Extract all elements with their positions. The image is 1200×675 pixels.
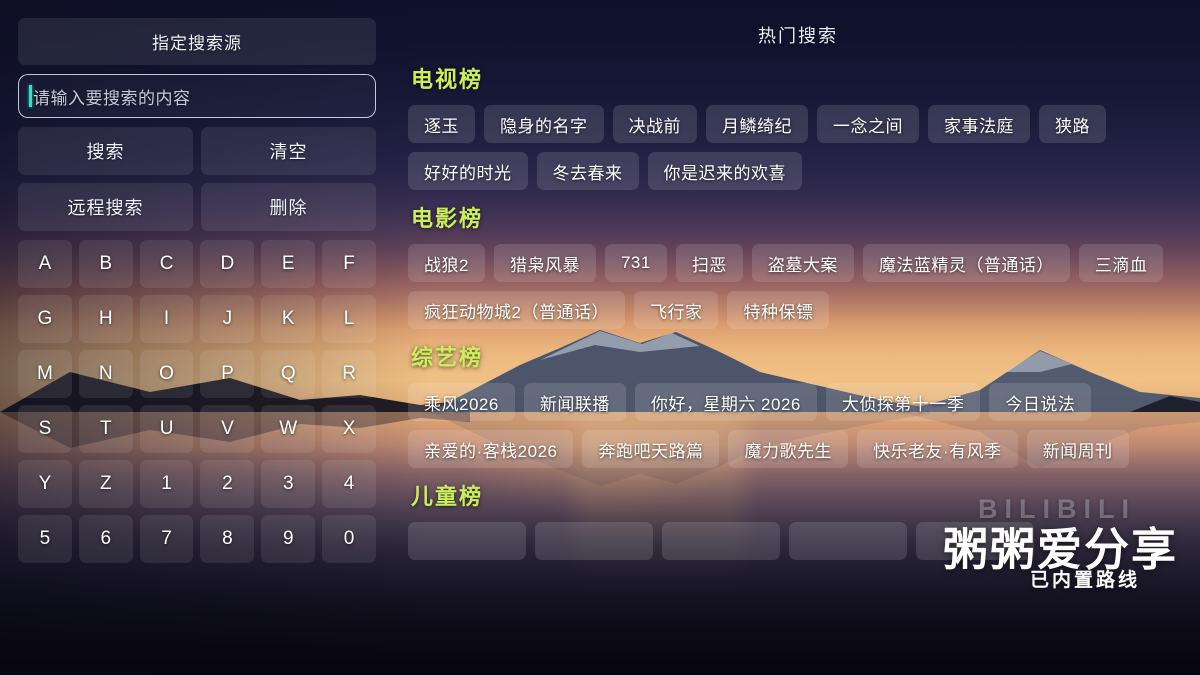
key-d[interactable]: D (200, 240, 254, 288)
ranking-tag-label: 你是迟来的欢喜 (664, 159, 787, 184)
key-3[interactable]: 3 (261, 460, 315, 508)
ranking-tag-label: 好好的时光 (424, 159, 512, 184)
key-label: L (344, 308, 355, 330)
ranking-tag-label: 奔跑吧天路篇 (598, 437, 703, 462)
ranking-tag[interactable]: 战狼2 (408, 244, 485, 282)
ranking-tag[interactable]: 奔跑吧天路篇 (582, 430, 719, 468)
key-label: 5 (40, 528, 51, 550)
ranking-tag[interactable]: 乘风2026 (408, 383, 515, 421)
ranking-tag-label: 狭路 (1055, 112, 1090, 137)
key-label: H (99, 308, 113, 330)
ranking-tag[interactable]: 亲爱的·客栈2026 (408, 430, 573, 468)
ranking-tag[interactable]: 一念之间 (817, 105, 919, 143)
key-s[interactable]: S (18, 405, 72, 453)
ranking-tag[interactable]: 今日说法 (989, 383, 1091, 421)
key-6[interactable]: 6 (79, 515, 133, 563)
key-label: 1 (161, 473, 172, 495)
ranking-tag-list: 战狼2猎枭风暴731扫恶盗墓大案魔法蓝精灵（普通话）三滴血疯狂动物城2（普通话）… (408, 244, 1200, 329)
ranking-tag[interactable]: 狭路 (1039, 105, 1106, 143)
key-label: F (343, 253, 355, 275)
key-label: 2 (222, 473, 233, 495)
key-label: K (282, 308, 295, 330)
text-cursor-icon (29, 85, 32, 107)
ranking-tag-label: 飞行家 (650, 298, 703, 323)
key-label: U (160, 418, 174, 440)
key-i[interactable]: I (140, 295, 194, 343)
key-h[interactable]: H (79, 295, 133, 343)
ranking-tag[interactable]: 魔力歌先生 (728, 430, 848, 468)
ranking-tag-label: 战狼2 (424, 251, 469, 276)
ranking-section: 儿童榜 (408, 479, 1200, 560)
key-label: T (100, 418, 112, 440)
key-n[interactable]: N (79, 350, 133, 398)
hot-search-panel: 热门搜索 电视榜逐玉隐身的名字决战前月鳞绮纪一念之间家事法庭狭路好好的时光冬去春… (396, 0, 1200, 675)
key-label: 7 (161, 528, 172, 550)
key-label: 9 (283, 528, 294, 550)
key-g[interactable]: G (18, 295, 72, 343)
action-button-grid: 搜索 清空 远程搜索 删除 (18, 127, 376, 231)
ranking-tag[interactable]: 月鳞绮纪 (706, 105, 808, 143)
ranking-tag-label: 猎枭风暴 (510, 251, 580, 276)
ranking-tag-label: 逐玉 (424, 112, 459, 137)
ranking-tag[interactable] (789, 522, 907, 560)
ranking-tag-label: 决战前 (629, 112, 682, 137)
ranking-tag-label: 大侦探第十一季 (842, 390, 965, 415)
key-label: 3 (283, 473, 294, 495)
key-label: S (39, 418, 52, 440)
ranking-tag-label: 特种保镖 (743, 298, 813, 323)
key-label: P (221, 363, 234, 385)
ranking-tag[interactable]: 731 (605, 244, 667, 282)
key-label: 6 (100, 528, 111, 550)
key-label: X (343, 418, 356, 440)
key-label: C (160, 253, 174, 275)
ranking-tag-label: 今日说法 (1005, 390, 1075, 415)
ranking-tag-label: 三滴血 (1095, 251, 1148, 276)
key-a[interactable]: A (18, 240, 72, 288)
key-f[interactable]: F (322, 240, 376, 288)
search-input-placeholder: 请输入要搜索的内容 (33, 84, 191, 109)
search-input[interactable]: 请输入要搜索的内容 (18, 74, 376, 118)
key-4[interactable]: 4 (322, 460, 376, 508)
ranking-tag-label: 扫恶 (692, 251, 727, 276)
search-button-label: 搜索 (87, 138, 125, 164)
ranking-section: 综艺榜乘风2026新闻联播你好，星期六 2026大侦探第十一季今日说法亲爱的·客… (408, 340, 1200, 468)
ranking-tag[interactable]: 魔法蓝精灵（普通话） (863, 244, 1070, 282)
ranking-tag[interactable]: 冬去春来 (537, 152, 639, 190)
delete-button-label: 删除 (270, 194, 308, 220)
ranking-tag[interactable]: 扫恶 (676, 244, 743, 282)
ranking-tag-label: 魔力歌先生 (744, 437, 832, 462)
ranking-tag-label: 你好，星期六 2026 (651, 390, 801, 415)
key-8[interactable]: 8 (200, 515, 254, 563)
ranking-tag[interactable]: 家事法庭 (928, 105, 1030, 143)
key-l[interactable]: L (322, 295, 376, 343)
key-label: 0 (344, 528, 355, 550)
key-label: R (342, 363, 356, 385)
search-panel: 指定搜索源 请输入要搜索的内容 搜索 清空 远程搜索 删除 ABCDEFGHIJ… (18, 18, 376, 563)
clear-button-label: 清空 (270, 138, 308, 164)
ranking-tag[interactable]: 决战前 (613, 105, 698, 143)
key-b[interactable]: B (79, 240, 133, 288)
specify-search-source-button[interactable]: 指定搜索源 (18, 18, 376, 65)
ranking-tag-label: 魔法蓝精灵（普通话） (879, 251, 1054, 276)
ranking-section-title: 综艺榜 (411, 340, 1200, 372)
ranking-tag[interactable]: 你是迟来的欢喜 (648, 152, 803, 190)
key-2[interactable]: 2 (200, 460, 254, 508)
key-label: O (159, 363, 174, 385)
ranking-tag-list: 乘风2026新闻联播你好，星期六 2026大侦探第十一季今日说法亲爱的·客栈20… (408, 383, 1200, 468)
hot-search-title: 热门搜索 (396, 22, 1200, 48)
key-label: I (164, 308, 169, 330)
key-label: J (223, 308, 233, 330)
ranking-tag-label: 月鳞绮纪 (722, 112, 792, 137)
ranking-tag-label: 疯狂动物城2（普通话） (424, 298, 609, 323)
ranking-tag-label: 乘风2026 (424, 390, 499, 415)
ranking-tag-label: 一念之间 (833, 112, 903, 137)
ranking-tag[interactable] (408, 522, 526, 560)
key-label: W (279, 418, 297, 440)
key-7[interactable]: 7 (140, 515, 194, 563)
key-label: Q (281, 363, 296, 385)
remote-search-button[interactable]: 远程搜索 (18, 183, 193, 231)
ranking-tag[interactable]: 新闻联播 (524, 383, 626, 421)
key-w[interactable]: W (261, 405, 315, 453)
key-label: 4 (344, 473, 355, 495)
ranking-section-title: 电影榜 (411, 201, 1200, 233)
search-screen: 指定搜索源 请输入要搜索的内容 搜索 清空 远程搜索 删除 ABCDEFGHIJ… (0, 0, 1200, 675)
ranking-tag-label: 新闻联播 (540, 390, 610, 415)
ranking-tag[interactable]: 疯狂动物城2（普通话） (408, 291, 625, 329)
key-q[interactable]: Q (261, 350, 315, 398)
key-label: M (37, 363, 53, 385)
key-label: G (38, 308, 53, 330)
key-label: A (39, 253, 52, 275)
ranking-tag[interactable]: 好好的时光 (408, 152, 528, 190)
ranking-tag-list (408, 522, 1200, 560)
ranking-tag[interactable]: 你好，星期六 2026 (635, 383, 817, 421)
key-x[interactable]: X (322, 405, 376, 453)
ranking-tag-label: 731 (621, 253, 651, 273)
ranking-sections: 电视榜逐玉隐身的名字决战前月鳞绮纪一念之间家事法庭狭路好好的时光冬去春来你是迟来… (408, 62, 1200, 571)
key-label: 8 (222, 528, 233, 550)
search-button[interactable]: 搜索 (18, 127, 193, 175)
onscreen-keyboard: ABCDEFGHIJKLMNOPQRSTUVWXYZ1234567890 (18, 240, 376, 563)
ranking-section: 电影榜战狼2猎枭风暴731扫恶盗墓大案魔法蓝精灵（普通话）三滴血疯狂动物城2（普… (408, 201, 1200, 329)
ranking-tag-list: 逐玉隐身的名字决战前月鳞绮纪一念之间家事法庭狭路好好的时光冬去春来你是迟来的欢喜 (408, 105, 1200, 190)
key-0[interactable]: 0 (322, 515, 376, 563)
key-o[interactable]: O (140, 350, 194, 398)
key-e[interactable]: E (261, 240, 315, 288)
key-c[interactable]: C (140, 240, 194, 288)
ranking-section-title: 儿童榜 (411, 479, 1200, 511)
key-label: N (99, 363, 113, 385)
ranking-tag-label: 新闻周刊 (1043, 437, 1113, 462)
key-z[interactable]: Z (79, 460, 133, 508)
key-u[interactable]: U (140, 405, 194, 453)
key-label: E (282, 253, 295, 275)
key-9[interactable]: 9 (261, 515, 315, 563)
specify-search-source-label: 指定搜索源 (152, 29, 242, 54)
key-t[interactable]: T (79, 405, 133, 453)
key-j[interactable]: J (200, 295, 254, 343)
ranking-tag[interactable]: 隐身的名字 (484, 105, 604, 143)
remote-search-button-label: 远程搜索 (68, 194, 144, 220)
ranking-tag-label: 盗墓大案 (768, 251, 838, 276)
ranking-tag-label: 快乐老友·有风季 (873, 437, 1002, 462)
ranking-tag[interactable]: 逐玉 (408, 105, 475, 143)
ranking-tag[interactable]: 三滴血 (1079, 244, 1164, 282)
delete-button[interactable]: 删除 (201, 183, 376, 231)
ranking-tag-label: 亲爱的·客栈2026 (424, 437, 557, 462)
ranking-tag[interactable] (916, 522, 1034, 560)
ranking-section-title: 电视榜 (411, 62, 1200, 94)
ranking-tag[interactable]: 新闻周刊 (1027, 430, 1129, 468)
clear-button[interactable]: 清空 (201, 127, 376, 175)
key-5[interactable]: 5 (18, 515, 72, 563)
ranking-tag[interactable]: 特种保镖 (727, 291, 829, 329)
ranking-tag[interactable]: 大侦探第十一季 (826, 383, 981, 421)
key-r[interactable]: R (322, 350, 376, 398)
key-label: Y (39, 473, 52, 495)
ranking-tag[interactable]: 快乐老友·有风季 (857, 430, 1018, 468)
ranking-tag[interactable]: 盗墓大案 (752, 244, 854, 282)
ranking-section: 电视榜逐玉隐身的名字决战前月鳞绮纪一念之间家事法庭狭路好好的时光冬去春来你是迟来… (408, 62, 1200, 190)
ranking-tag-label: 冬去春来 (553, 159, 623, 184)
ranking-tag[interactable] (535, 522, 653, 560)
ranking-tag[interactable] (662, 522, 780, 560)
key-label: B (99, 253, 112, 275)
key-v[interactable]: V (200, 405, 254, 453)
key-m[interactable]: M (18, 350, 72, 398)
key-1[interactable]: 1 (140, 460, 194, 508)
ranking-tag[interactable]: 猎枭风暴 (494, 244, 596, 282)
key-label: D (221, 253, 235, 275)
key-p[interactable]: P (200, 350, 254, 398)
ranking-tag-label: 隐身的名字 (500, 112, 588, 137)
key-label: Z (100, 473, 112, 495)
key-k[interactable]: K (261, 295, 315, 343)
ranking-tag-label: 家事法庭 (944, 112, 1014, 137)
key-y[interactable]: Y (18, 460, 72, 508)
key-label: V (221, 418, 234, 440)
ranking-tag[interactable]: 飞行家 (634, 291, 719, 329)
